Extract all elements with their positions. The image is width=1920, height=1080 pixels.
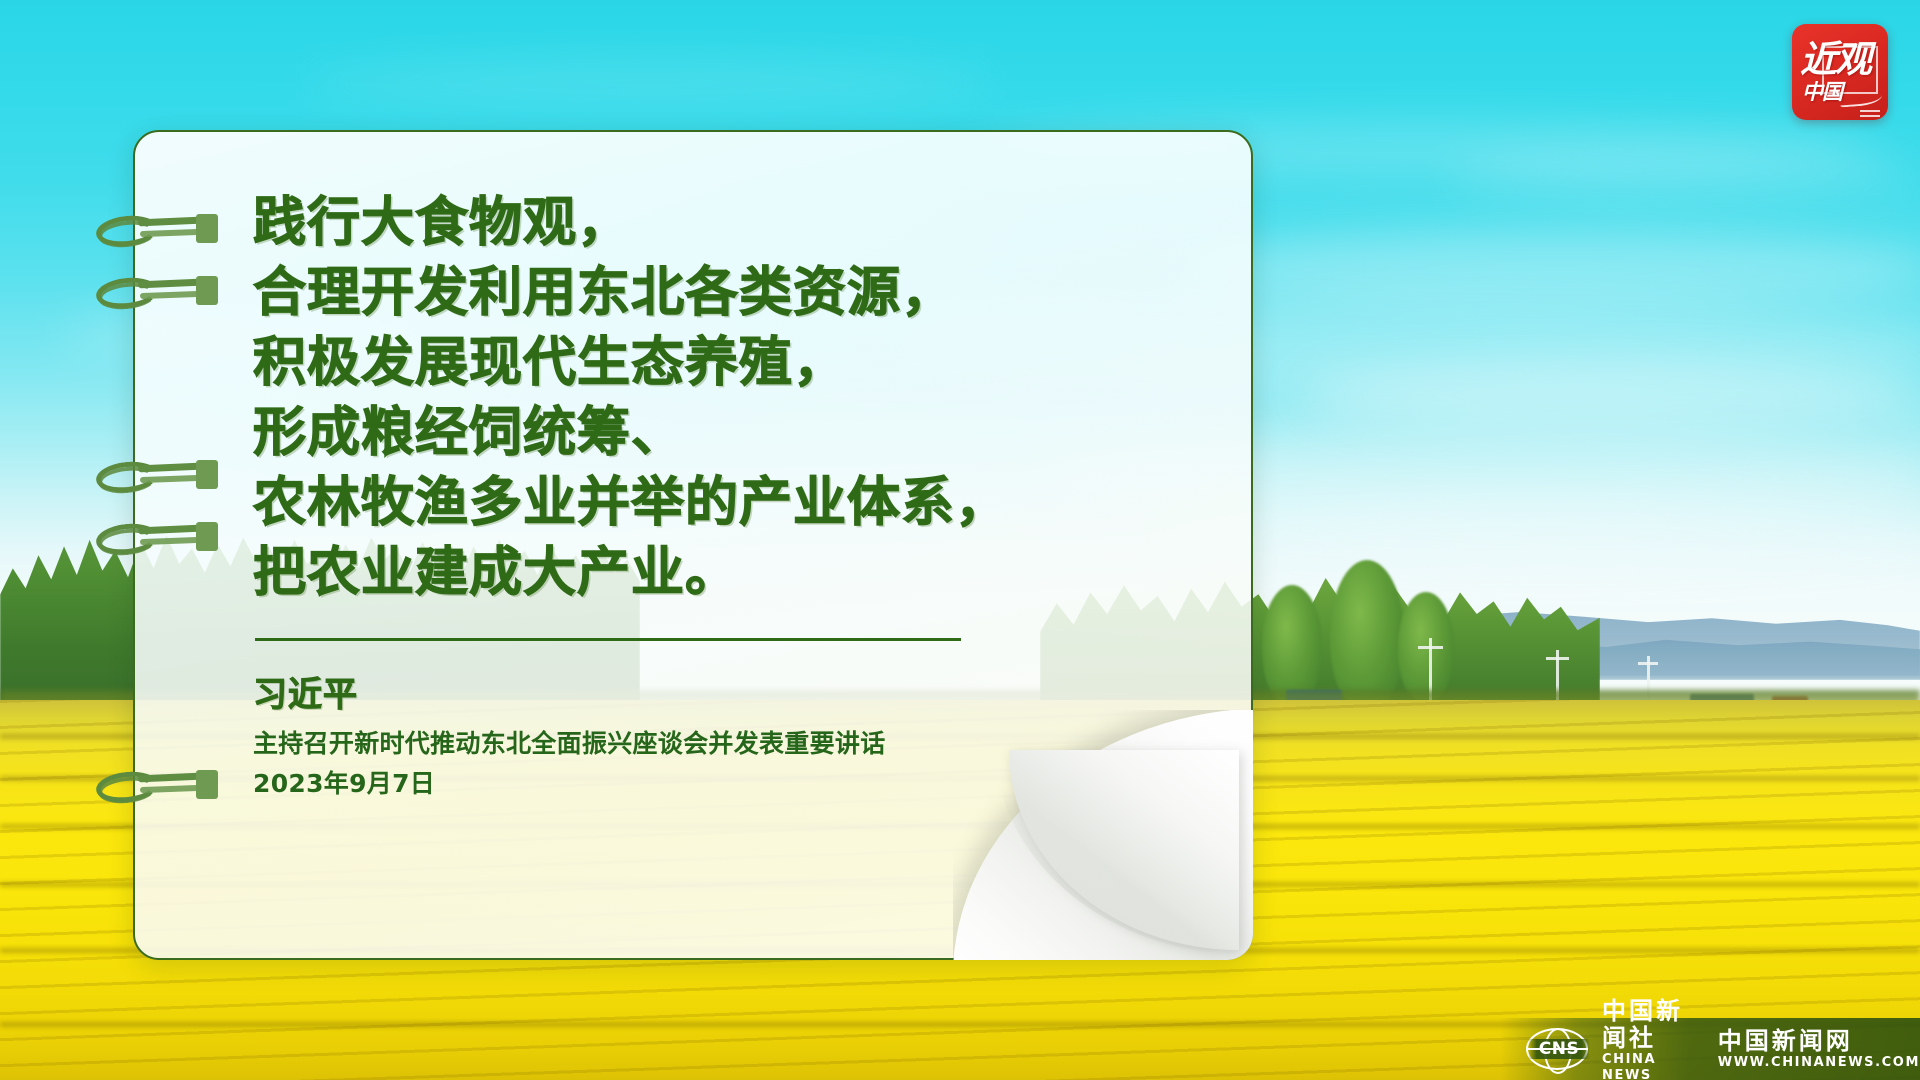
cns-globe-icon: CNS [1526,1028,1588,1070]
cns-site-cn: 中国新闻网 [1718,1028,1920,1055]
tree [1330,560,1404,710]
logo-primary-text: 近观 [1800,38,1880,82]
binding-ring [96,212,192,250]
utility-pole-arm [1546,657,1569,660]
quote-author: 习近平 [253,667,1163,716]
quote-line: 合理开发利用东北各类资源， [253,258,1163,328]
binding-ring [96,520,192,558]
quote-card-content: 践行大食物观， 合理开发利用东北各类资源， 积极发展现代生态养殖， 形成粮经饲统… [135,132,1251,958]
cns-agency-cn: 中国新闻社 [1602,998,1686,1052]
quote-text: 践行大食物观， 合理开发利用东北各类资源， 积极发展现代生态养殖， 形成粮经饲统… [253,188,1163,608]
cloud [300,60,1000,105]
quote-line: 形成粮经饲统筹、 [253,398,1163,468]
binding-ring [96,458,192,496]
cns-emblem-text: CNS [1528,1039,1590,1059]
binding-ring [96,768,192,806]
cns-agency-block: 中国新闻社 CHINA NEWS SERVICE [1602,998,1686,1080]
utility-pole-arm [1638,662,1658,665]
quote-line: 积极发展现代生态养殖， [253,328,1163,398]
logo-swoosh-icon [1839,89,1882,108]
quote-line: 把农业建成大产业。 [253,538,1163,608]
utility-pole-arm [1418,646,1443,649]
quote-card: 践行大食物观， 合理开发利用东北各类资源， 积极发展现代生态养殖， 形成粮经饲统… [133,130,1253,960]
poster-canvas: 近观 中国 践行大食物观， 合理开发利用东北各类资源， 积极发展现代生态养殖， … [0,0,1920,1080]
cloud [1450,150,1920,200]
cns-agency-en: CHINA NEWS SERVICE [1602,1052,1686,1080]
quote-occasion: 主持召开新时代推动东北全面振兴座谈会并发表重要讲话 [253,724,1163,760]
jinguan-zhongguo-logo[interactable]: 近观 中国 [1792,24,1888,120]
cloud [1300,360,1920,430]
cns-site-block: 中国新闻网 WWW.CHINANEWS.COM [1718,1028,1920,1071]
tree [1262,585,1322,705]
cns-watermark: CNS 中国新闻社 CHINA NEWS SERVICE 中国新闻网 WWW.C… [1500,1018,1920,1080]
quote-line: 践行大食物观， [253,188,1163,258]
cloud [1150,500,1920,570]
cns-site-en: WWW.CHINANEWS.COM [1718,1055,1920,1071]
attribution-divider [255,638,961,641]
quote-date: 2023年9月7日 [253,764,1163,800]
logo-dash-icon [1860,110,1880,112]
quote-line: 农林牧渔多业并举的产业体系， [253,468,1163,538]
binding-ring [96,274,192,312]
cloud [1180,230,1920,310]
